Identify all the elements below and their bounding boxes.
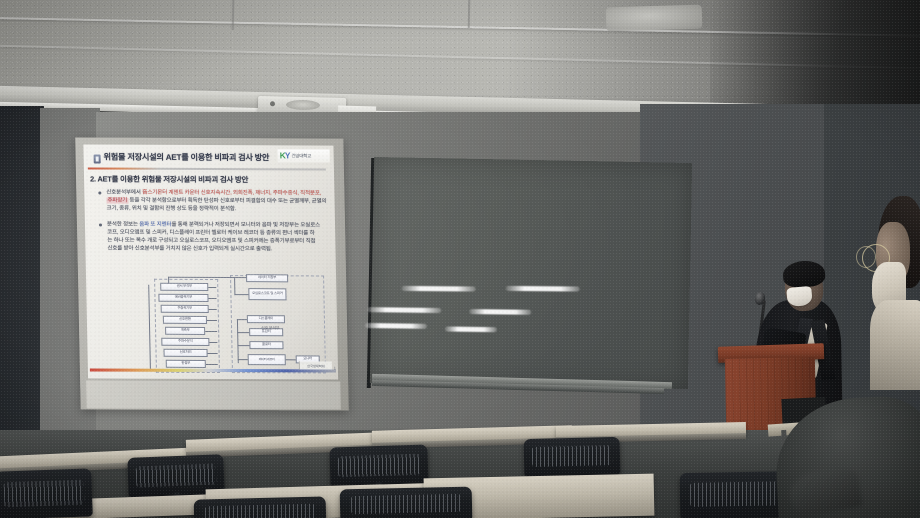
flowchart-box: 센서 부착부	[160, 283, 208, 291]
bullet-text: 등을 각각 분석함으로부터 획득한 탄성파 신호로부터 피결함의 대수 또는 균…	[128, 198, 326, 205]
whiteboard-light-reflection	[445, 326, 497, 332]
bullet-text-highlight-blue: 음파 또 지멘터	[139, 221, 171, 227]
chair	[0, 468, 93, 518]
slide-title-rule	[88, 167, 326, 170]
bullet-text: 분석한 정보는	[107, 221, 139, 227]
audience-shoulder	[870, 300, 920, 390]
slide-bullet-list: 신호분석부에서 音스기몬터 계젠트 카운터 신호지속시간, 외희진폭, 제너지,…	[98, 189, 327, 261]
flowchart-connector	[237, 332, 249, 333]
slide-bullet: 분석한 정보는 음파 또 지멘터를 통해 분력되거나 저장되면서 모니터와 음파…	[99, 220, 328, 254]
chair	[194, 496, 327, 518]
flowchart-connector	[208, 287, 216, 288]
flowchart-connector	[286, 359, 296, 360]
flowchart-connector	[208, 353, 218, 354]
flowchart-connector	[237, 319, 247, 320]
slide-flowchart: 센서 부착부 예비증폭기부 주증폭기부 신호변환 계측부 주파수분석 신호처리 …	[138, 273, 330, 374]
bullet-text: 를 통해 분력되거나 저장되면서 모니터와 음파 및 저장부는 오실로스	[171, 221, 320, 228]
flowchart-connector	[209, 309, 217, 310]
slide-footer-bar	[90, 369, 336, 373]
standing-audience-member	[862, 196, 920, 386]
slide-footer-tag: 한국방재학회	[299, 361, 332, 369]
chair-mesh-back	[350, 494, 461, 514]
whiteboard-light-reflection	[402, 286, 476, 292]
flowchart-box: 계측부	[165, 327, 205, 335]
chair-mesh-back	[531, 445, 612, 467]
ceiling-vent	[606, 5, 703, 32]
flowchart-box: 데이터 레코더	[248, 354, 286, 365]
bullet-text: 신호분석부에서	[106, 190, 142, 196]
flowchart-box: 데이터 저장부	[246, 274, 288, 282]
projector-screen: 위험물 저장시설의 AET를 이용한 비파괴 검사 방안 KY 건양대학교 2.…	[75, 137, 349, 410]
flowchart-box: 주파수분석	[161, 338, 209, 346]
flowchart-connector	[206, 364, 218, 365]
bullet-text-highlight-red: 音스기몬터 계젠트 카운터 신호지속시간, 외희진폭, 제너지, 주파수중식, …	[142, 190, 321, 197]
slide-section-heading: 2. AET를 이용한 위험물 저장시설의 비파괴 검사 방안	[90, 173, 248, 185]
eyeglasses-icon	[856, 246, 876, 268]
bullet-line: 신호를 받아 신호분석부를 거치지 않은 신호가 입력되게 실시간으로 출력됨.	[107, 245, 327, 254]
flowchart-connector	[237, 345, 249, 346]
flowchart-connector	[208, 298, 216, 299]
slide-page-number: 1	[334, 366, 336, 371]
flowchart-connector	[209, 342, 217, 343]
flowchart-box: 오실로스코프 및 스피커	[248, 288, 286, 300]
flowchart-box: 디스플레이	[247, 315, 285, 323]
flowchart-box: 판정부	[166, 360, 206, 368]
whiteboard-light-reflection	[469, 309, 531, 315]
chair-mesh-back	[337, 454, 420, 477]
whiteboard-light-reflection	[367, 307, 441, 313]
flowchart-connector	[238, 359, 248, 360]
logo-mark: KY	[280, 152, 290, 161]
flowchart-connector	[205, 331, 217, 332]
chair-mesh-back	[204, 503, 315, 518]
projected-slide: 위험물 저장시설의 AET를 이용한 비파괴 검사 방안 KY 건양대학교 2.…	[83, 144, 338, 379]
book-icon	[94, 154, 101, 163]
flowchart-box: 신호처리	[163, 349, 207, 357]
chair-mesh-back	[3, 479, 84, 507]
chair	[524, 437, 621, 477]
fixture-speaker-grille	[286, 100, 320, 111]
ceiling-shadow	[710, 0, 920, 104]
chair	[340, 487, 473, 518]
slide-title: 위험물 저장시설의 AET를 이용한 비파괴 검사 방안	[104, 152, 270, 164]
logo-university-name: 건양대학교	[291, 153, 311, 158]
whiteboard-light-reflection	[506, 286, 580, 292]
projector-screen-blank-area	[86, 380, 341, 409]
flowchart-connector	[148, 285, 150, 369]
flowchart-box: 신호변환	[163, 316, 207, 324]
university-logo: KY 건양대학교	[278, 149, 330, 162]
slide-bullet: 신호분석부에서 音스기몬터 계젠트 카운터 신호지속시간, 외희진폭, 제너지,…	[98, 189, 327, 215]
chair-mesh-back	[135, 463, 216, 487]
flowchart-connector	[207, 320, 217, 321]
flowchart-box: 주증폭기부	[161, 305, 209, 313]
bullet-line: 크기, 종류, 위치 및 결함의 진행 상도 등을 정략적이 분석함.	[107, 205, 327, 214]
logo-mark-accent: Y	[285, 151, 290, 161]
lecture-hall-photo: 위험물 저장시설의 AET를 이용한 비파괴 검사 방안 KY 건양대학교 2.…	[0, 0, 920, 518]
whiteboard-light-reflection	[365, 323, 427, 329]
whiteboard	[370, 157, 692, 389]
flowchart-connector	[234, 294, 248, 295]
fixture-sensor-icon	[270, 101, 275, 106]
flowchart-group-label: 신호 분석부	[261, 325, 279, 331]
flowchart-box: 예비증폭기부	[158, 294, 208, 302]
bullet-text-highlight-pink: 주파장기	[106, 198, 128, 204]
flowchart-box: 플로터	[249, 341, 283, 349]
